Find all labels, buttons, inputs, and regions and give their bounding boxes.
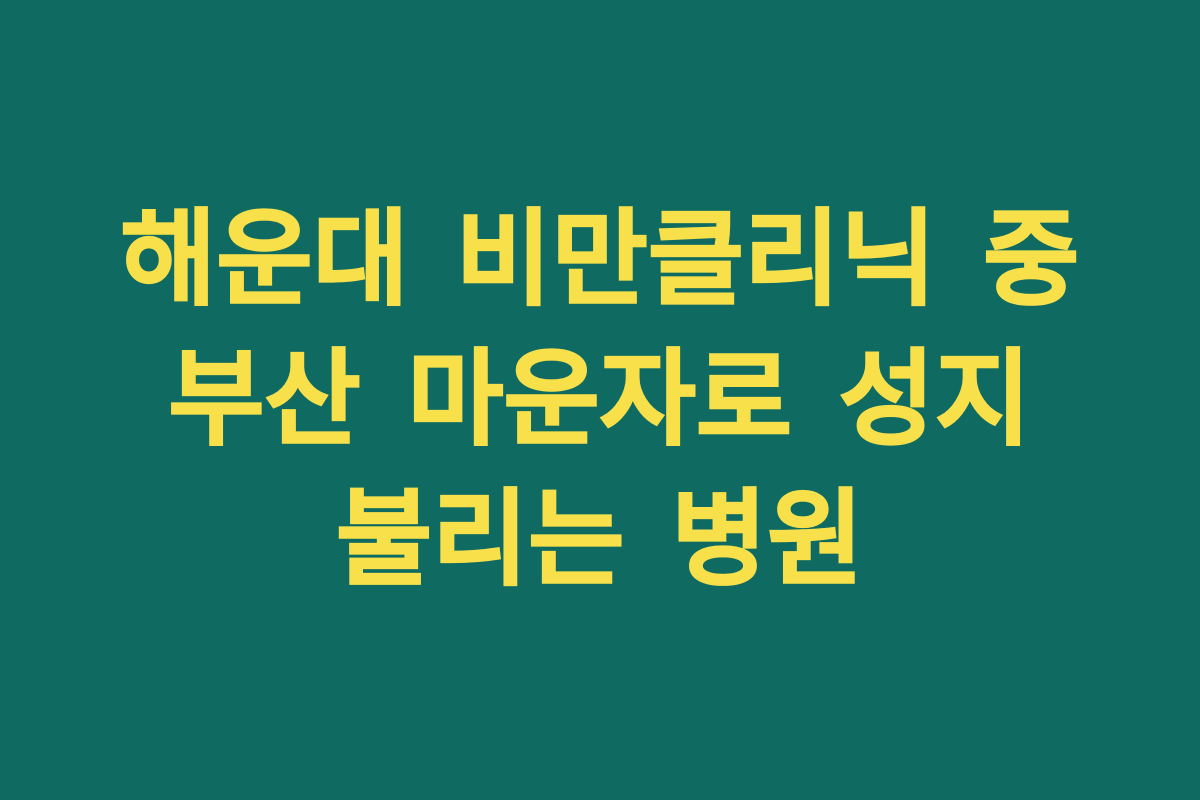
headline-block: 해운대 비만클리닉 중 부산 마운자로 성지 불리는 병원: [80, 189, 1120, 609]
text-card: 해운대 비만클리닉 중 부산 마운자로 성지 불리는 병원: [0, 0, 1200, 800]
headline-text: 해운대 비만클리닉 중 부산 마운자로 성지 불리는 병원: [80, 189, 1120, 609]
